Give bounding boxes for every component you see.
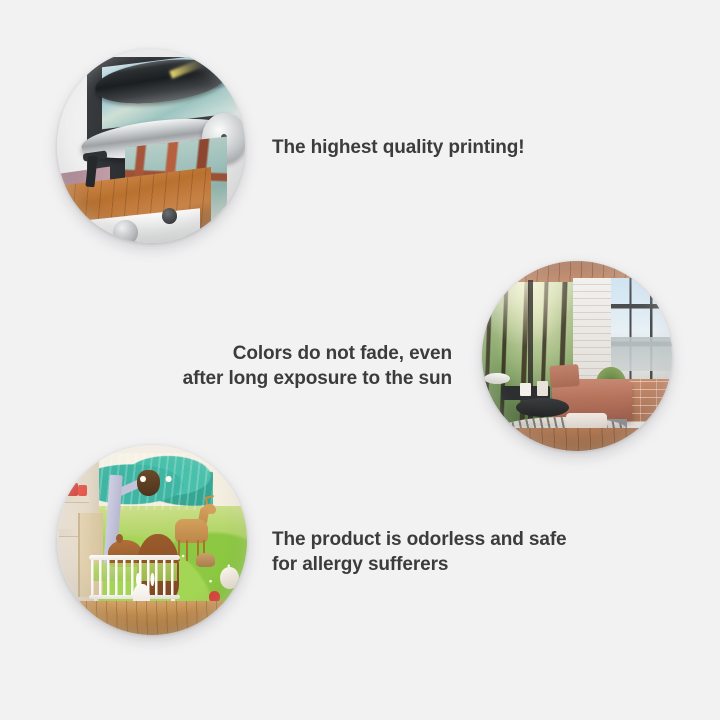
mural-snail (196, 553, 215, 566)
shelf-jar-small (78, 485, 88, 496)
mural-deer-body (175, 519, 208, 543)
city-view-through-window (611, 337, 672, 371)
nursery-animal-mural-photo (57, 445, 247, 635)
press-knob-large (113, 220, 137, 243)
nursery-wood-floor (57, 601, 247, 635)
table-candle (537, 381, 548, 396)
mural-deer-leg (186, 540, 188, 561)
table-cup (520, 383, 531, 396)
feature-caption-odorless: The product is odorless and safe for all… (272, 527, 612, 577)
living-room-forest-mural-photo (482, 261, 672, 451)
feature-caption-printing: The highest quality printing! (272, 135, 592, 160)
printing-press-photo (57, 49, 245, 243)
shelf-jar-red (65, 483, 78, 496)
feature-caption-colorfast: Colors do not fade, even after long expo… (120, 341, 452, 391)
mural-owl (137, 470, 160, 497)
mural-deer (175, 504, 217, 561)
feature-collage: The highest quality printing! Colors do … (0, 0, 720, 720)
round-coffee-table (516, 398, 569, 417)
wood-floor (482, 428, 672, 451)
press-knob-small (162, 208, 177, 224)
